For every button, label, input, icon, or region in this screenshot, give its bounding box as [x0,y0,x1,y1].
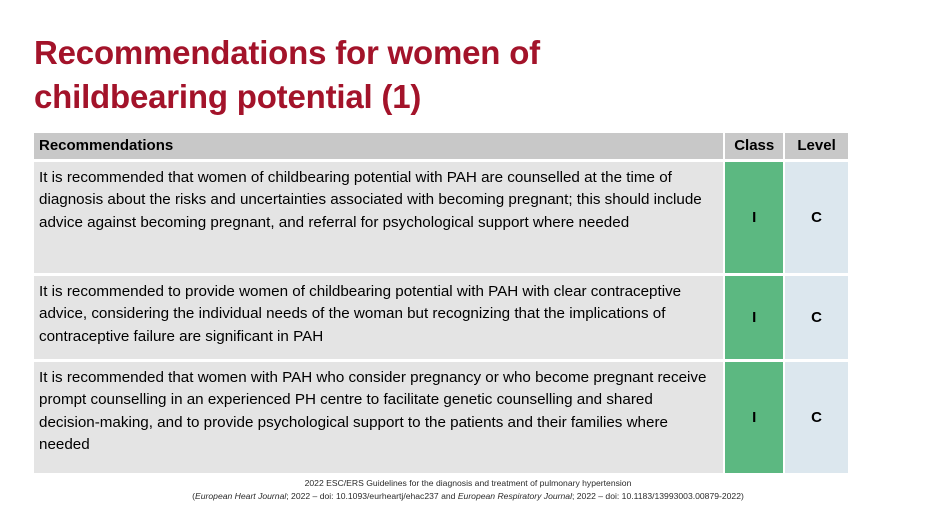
column-header-level: Level [785,133,848,159]
level-value: C [785,276,848,359]
page-title: Recommendations for women of childbearin… [34,31,674,119]
recommendation-text: It is recommended that women of childbea… [34,162,723,273]
journal-name-erj: European Respiratory Journal [458,491,572,501]
column-header-class: Class [725,133,783,159]
column-header-recommendations: Recommendations [34,133,723,159]
journal-name-ehj: European Heart Journal [195,491,286,501]
class-value: I [725,162,783,273]
level-value: C [785,362,848,473]
footer-line-2: (European Heart Journal; 2022 – doi: 10.… [0,490,936,503]
footer-citation: 2022 ESC/ERS Guidelines for the diagnosi… [0,477,936,504]
recommendation-text: It is recommended that women with PAH wh… [34,362,723,473]
recommendation-text: It is recommended to provide women of ch… [34,276,723,359]
table-row: It is recommended that women with PAH wh… [34,362,848,473]
footer-doi-ehj: ; 2022 – doi: 10.1093/eurheartj/ehac237 … [286,491,458,501]
recommendations-table: Recommendations Class Level It is recomm… [34,133,848,473]
table-header-row: Recommendations Class Level [34,133,848,159]
table-row: It is recommended that women of childbea… [34,162,848,273]
table-row: It is recommended to provide women of ch… [34,276,848,359]
class-value: I [725,362,783,473]
class-value: I [725,276,783,359]
level-value: C [785,162,848,273]
footer-line-1: 2022 ESC/ERS Guidelines for the diagnosi… [0,477,936,490]
footer-doi-erj: ; 2022 – doi: 10.1183/13993003.00879-202… [572,491,744,501]
